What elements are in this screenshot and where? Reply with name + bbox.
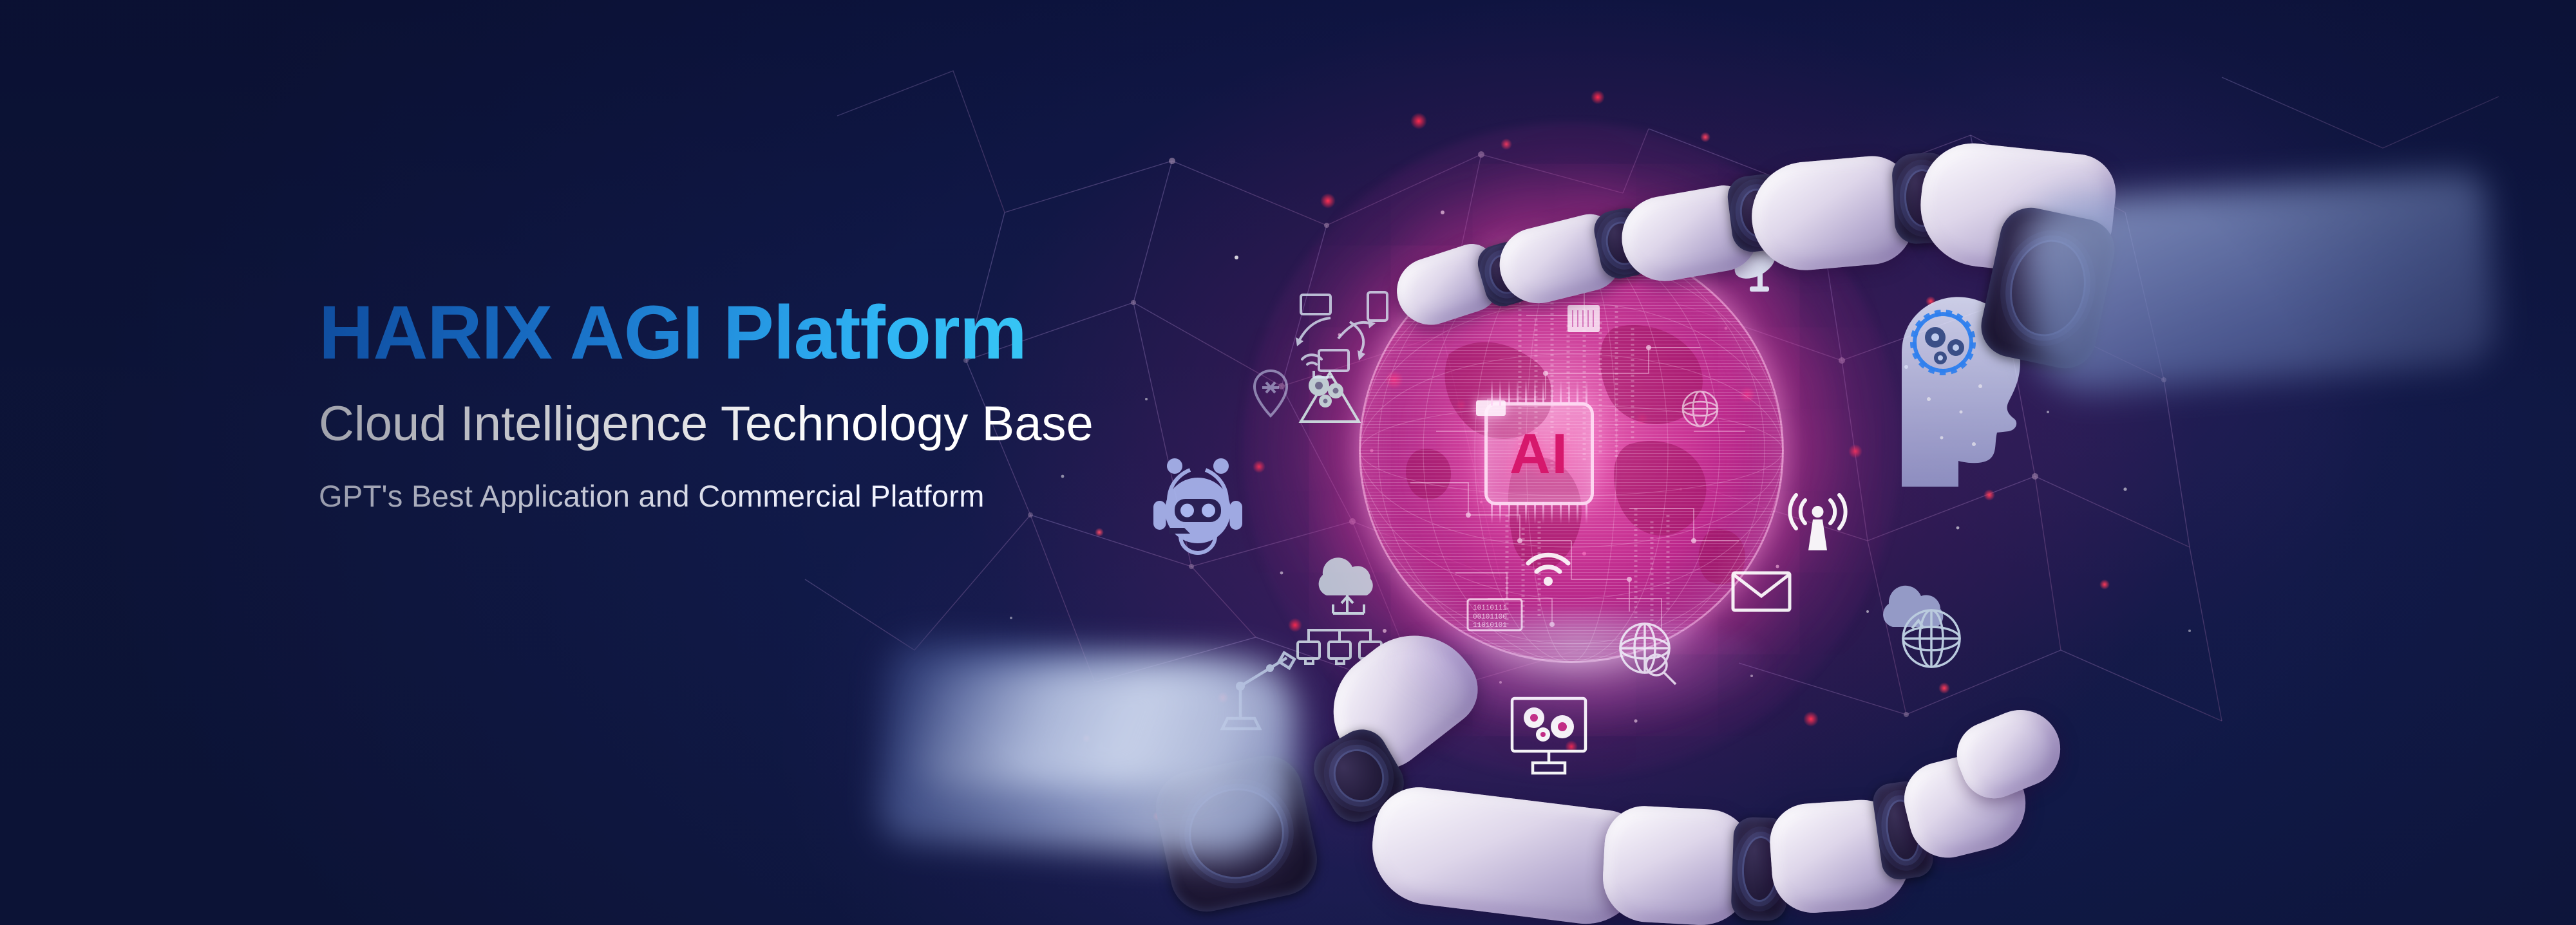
robot-arm-left-highlight <box>914 666 1249 789</box>
chip-legs-top <box>1488 380 1591 406</box>
robot-finger-lower-1 <box>1600 804 1754 925</box>
page-title: HARIX AGI Platform <box>319 293 1220 373</box>
hero-banner: AI <box>0 0 2576 925</box>
hero-copy-block: HARIX AGI Platform Cloud Intelligence Te… <box>319 293 1220 515</box>
robot-finger-4 <box>1747 153 1917 274</box>
globe-bottom-light-veil <box>1385 612 1771 727</box>
robot-hand-upper <box>1365 77 2074 348</box>
page-subtitle: Cloud Intelligence Technology Base <box>319 397 1220 451</box>
page-tagline: GPT's Best Application and Commercial Pl… <box>319 478 1220 514</box>
chip-legs-bottom <box>1488 502 1591 524</box>
robot-arm-right-blurred <box>2022 171 2498 395</box>
ai-chip-label: AI <box>1510 425 1569 482</box>
ai-chip-emblem: AI <box>1484 402 1594 505</box>
